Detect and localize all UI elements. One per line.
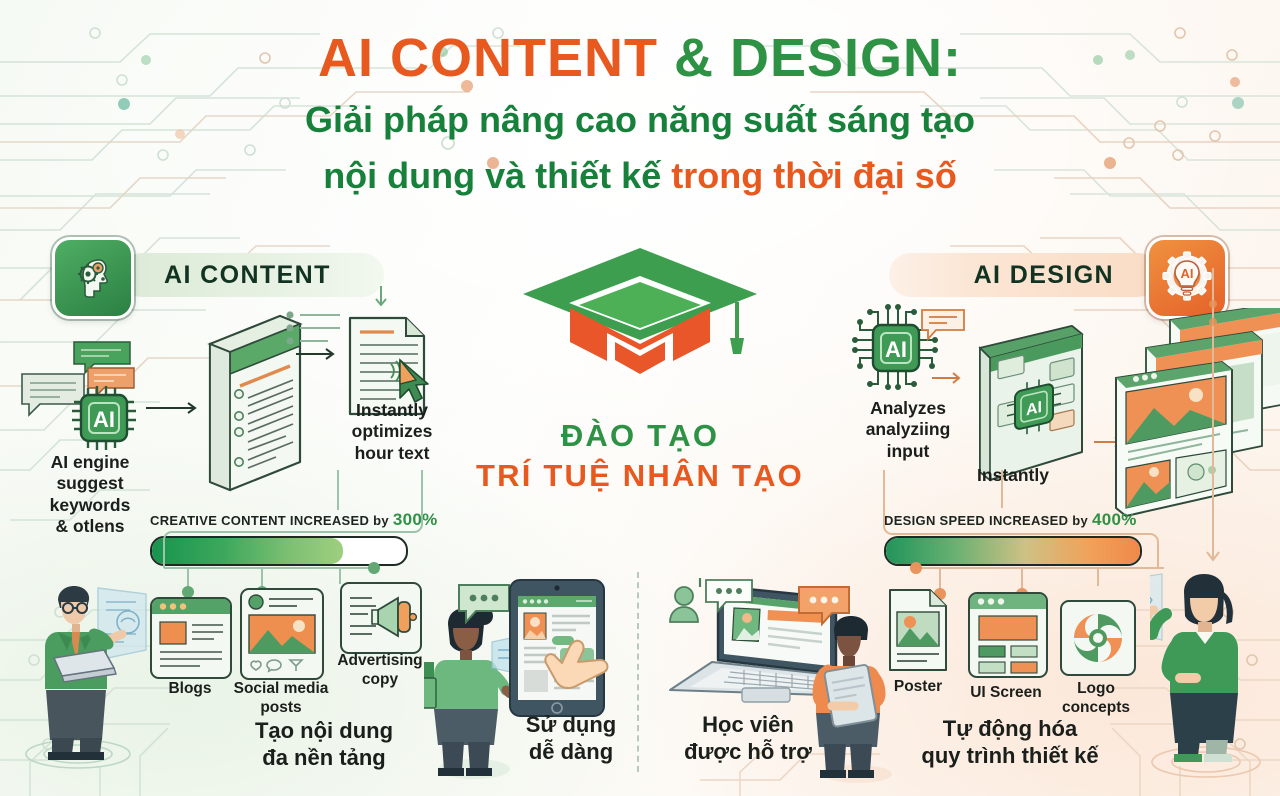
- svg-text:AI: AI: [885, 337, 907, 362]
- item-label-logo-concepts: Logo concepts: [1056, 680, 1136, 718]
- subtitle-green-part: nội dung và thiết kế: [323, 155, 661, 196]
- image-post-icon: [240, 588, 324, 680]
- ai-content-label: AI CONTENT: [164, 261, 331, 290]
- caption-optimizes: Instantly optimizes hour text: [328, 400, 456, 464]
- person-with-tablet-illustration: [806, 614, 916, 791]
- ai-chip-icon-left: AI: [66, 380, 142, 461]
- item-label-blogs: Blogs: [150, 680, 230, 699]
- section-header-ai-design: AI DESIGN: [889, 253, 1160, 297]
- svg-text:AI: AI: [1181, 266, 1194, 281]
- chat-bubble-right: [920, 308, 966, 347]
- item-label-advertising: Advertising copy: [336, 652, 424, 690]
- title-ai-content: AI CONTENT: [318, 28, 658, 88]
- connector-right-down: [1198, 268, 1228, 583]
- person-with-hologram-illustration: [1150, 570, 1280, 785]
- browser-article-icon: [150, 597, 232, 679]
- ai-design-label: AI DESIGN: [974, 261, 1114, 290]
- megaphone-icon: [340, 582, 422, 654]
- title-block: AI CONTENT & DESIGN: Giải pháp nâng cao …: [0, 30, 1280, 199]
- head-gear-brain-icon: [52, 237, 134, 319]
- item-label-ui-screen: UI Screen: [962, 684, 1050, 703]
- brand-line-1: ĐÀO TẠO: [476, 418, 804, 454]
- caption-easy-use: Sử dụng dễ dàng: [506, 712, 636, 766]
- center-brand-block: ĐÀO TẠO TRÍ TUỆ NHÂN TẠO: [476, 232, 804, 494]
- infographic-canvas: AI CONTENT & DESIGN: Giải pháp nâng cao …: [0, 0, 1280, 796]
- subtitle-line-1: Giải pháp nâng cao năng suất sáng tạo: [0, 97, 1280, 143]
- caption-student-support: Học viên được hỗ trợ: [668, 712, 828, 766]
- page-title: AI CONTENT & DESIGN:: [0, 30, 1280, 87]
- user-avatar-chat-icon: [664, 578, 756, 637]
- graduation-cap-icon: [515, 232, 765, 407]
- title-design: DESIGN:: [730, 28, 962, 88]
- brand-line-2: TRÍ TUỆ NHÂN TẠO: [476, 458, 804, 494]
- caption-ai-engine: AI engine suggest keywords & otlens: [30, 452, 150, 537]
- svg-text:AI: AI: [93, 407, 115, 432]
- arrow-doc-to-result: [296, 345, 344, 368]
- title-ampersand: &: [674, 28, 714, 88]
- tablet-with-hand-illustration: [508, 578, 638, 733]
- arrow-chip-to-canvas: [932, 368, 970, 393]
- logo-swirl-icon: [1060, 600, 1136, 676]
- svg-text:AI: AI: [1026, 398, 1042, 419]
- caption-multi-platform-content: Tạo nội dung đa nền tảng: [214, 718, 434, 772]
- caption-analyzes-input: Analyzes analyziing input: [848, 398, 968, 462]
- person-with-laptop-illustration: [18, 572, 158, 777]
- section-header-ai-content: AI CONTENT: [120, 253, 384, 297]
- ui-screen-icon: [968, 592, 1048, 678]
- subtitle-line-2: nội dung và thiết kế trong thời đại số: [0, 153, 1280, 199]
- chat-bubble-dots-green: [456, 582, 512, 631]
- item-label-social-media: Social media posts: [232, 680, 330, 718]
- subtitle-orange-part: trong thời đại số: [671, 155, 957, 196]
- caption-automate-design: Tự động hóa quy trình thiết kế: [890, 716, 1130, 770]
